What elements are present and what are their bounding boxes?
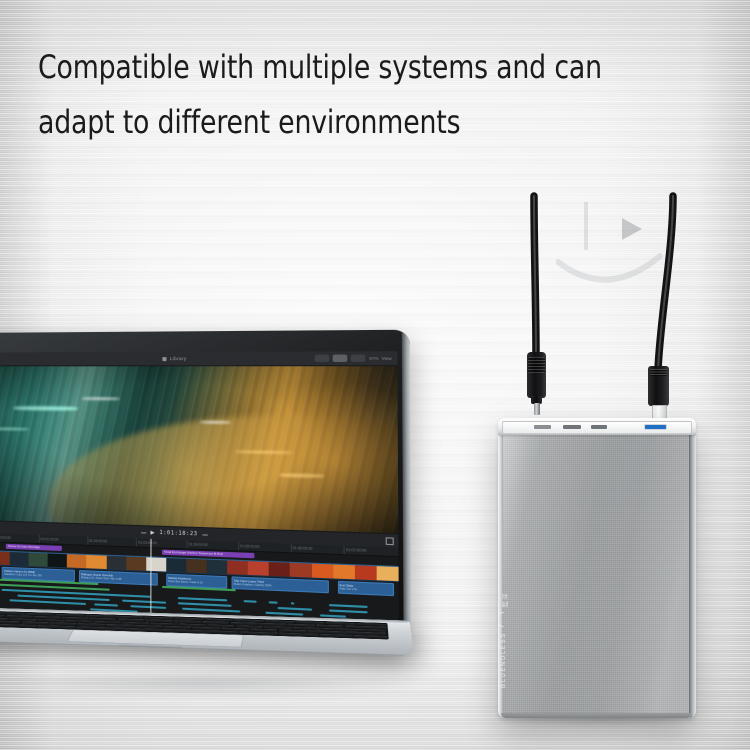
- usb-plug-ribs: [650, 369, 667, 376]
- keyboard-key[interactable]: [36, 625, 76, 629]
- dc-barrel-plug: [527, 352, 546, 414]
- filmstrip-frame: [67, 554, 87, 568]
- filmstrip-frame: [106, 556, 126, 570]
- ruler-tick: [38, 535, 39, 543]
- filmstrip-frame: [0, 551, 10, 565]
- filmstrip-frame: [376, 566, 398, 581]
- audio-waveform-segment[interactable]: [178, 597, 227, 601]
- filmstrip-frame: [87, 555, 107, 569]
- audio-waveform-segment[interactable]: [320, 614, 346, 617]
- clip-subtitle: Stabilized • Color LUT v3 • Rec.709: [4, 572, 73, 579]
- skip-forward-icon[interactable]: [202, 534, 207, 535]
- dc-power-cable: [534, 196, 536, 356]
- filmstrip-frame: [227, 560, 248, 575]
- external-hard-drive-enclosure: BLUENDLESS 藍深: [498, 418, 696, 718]
- skip-back-icon[interactable]: [142, 532, 147, 533]
- laptop-lid: Library 97% View: [0, 330, 412, 655]
- drive-right-edge: [690, 418, 696, 718]
- video-viewer: [0, 366, 398, 533]
- keyboard-key[interactable]: [0, 624, 36, 628]
- filmstrip-frame: [269, 562, 290, 577]
- drive-bottom-edge: [501, 713, 692, 718]
- brand-cjk-name: 藍深: [499, 592, 509, 607]
- usb-plug-body: [648, 366, 669, 406]
- audio-waveform-segment[interactable]: [94, 603, 118, 606]
- timecode-display: 1:01:18:23: [159, 530, 197, 538]
- audio-waveform-segment[interactable]: [10, 599, 87, 604]
- silver-laptop: Library 97% View: [0, 330, 414, 730]
- keyboard-key[interactable]: [239, 631, 279, 635]
- ruler-label: 01:07:00:00: [346, 547, 366, 552]
- timeline-marker[interactable]: Scene 01 Intro Montage: [6, 544, 62, 551]
- filmstrip-frame: [355, 565, 377, 580]
- laptop-screen: Library 97% View: [0, 351, 399, 647]
- filmstrip-frame: [10, 552, 29, 566]
- filmstrip-frame: [333, 564, 355, 579]
- ruler-label: 01:00:00:00: [0, 535, 11, 540]
- dc-plug-ribs: [528, 357, 545, 373]
- dc-cable-highlight: [534, 196, 536, 356]
- viewer-vignette: [0, 366, 398, 533]
- play-icon[interactable]: [151, 531, 155, 535]
- page-title: Compatible with multiple systems and can…: [38, 40, 680, 150]
- dc-power-port[interactable]: [563, 425, 581, 429]
- audio-waveform-segment[interactable]: [178, 602, 231, 606]
- smiley-face-watermark: [556, 196, 676, 308]
- keyboard-key[interactable]: [354, 635, 387, 639]
- audio-waveform-segment[interactable]: [244, 600, 257, 602]
- drive-body: BLUENDLESS 藍深: [498, 418, 696, 718]
- audio-waveform-segment[interactable]: [182, 608, 240, 612]
- audio-waveform-segment[interactable]: [269, 601, 277, 603]
- view-chip-1[interactable]: [315, 355, 330, 362]
- audio-waveform-segment[interactable]: [278, 607, 312, 610]
- ruler-tick: [344, 546, 345, 555]
- audio-waveform-segment[interactable]: [130, 605, 166, 608]
- library-icon: [162, 357, 166, 361]
- filmstrip-frame: [166, 558, 186, 572]
- micro-usb-port[interactable]: [591, 425, 607, 429]
- brand-name: BLUENDLESS: [501, 632, 507, 688]
- keyboard-key[interactable]: [320, 634, 353, 638]
- app-toolbar-title: Library: [170, 356, 187, 361]
- audio-waveform-segment[interactable]: [329, 604, 368, 608]
- ruler-tick: [238, 542, 239, 550]
- timeline-clip[interactable]: End SlateFade Out 1.5s: [337, 581, 394, 596]
- dc-plug-tip: [534, 403, 540, 415]
- ruler-tick: [290, 544, 291, 553]
- view-chip-2[interactable]: [333, 355, 348, 362]
- vent-slot[interactable]: [534, 425, 552, 429]
- ruler-label: 01:03:00:00: [138, 540, 157, 545]
- filmstrip-frame: [311, 564, 333, 579]
- lid-edge: [402, 330, 412, 655]
- audio-waveform-segment[interactable]: [290, 602, 294, 604]
- ruler-label: 01:06:00:00: [292, 545, 312, 550]
- zoom-level: 97%: [369, 356, 378, 361]
- audio-waveform-segment[interactable]: [329, 609, 368, 613]
- drive-surface-sheen: [498, 418, 696, 718]
- clip-subtitle: Fade Out 1.5s: [340, 587, 392, 594]
- clip-subtitle: Motion Graphics • Opacity 100%: [234, 582, 327, 590]
- brand-mark: BLUENDLESS 藍深: [498, 592, 511, 688]
- view-menu-label[interactable]: View: [382, 356, 392, 361]
- drive-right-seam: [689, 432, 691, 714]
- audio-waveform-segment[interactable]: [122, 600, 166, 604]
- app-toolbar: Library 97% View: [0, 351, 397, 366]
- keyboard-key[interactable]: [279, 633, 319, 637]
- filmstrip-frame: [290, 563, 311, 578]
- filmstrip-frame: [248, 561, 269, 576]
- filmstrip-frame: [186, 559, 206, 573]
- filmstrip-frame: [48, 553, 67, 567]
- ruler-label: 01:02:00:00: [89, 538, 107, 543]
- ruler-label: 01:05:00:00: [240, 544, 260, 549]
- ruler-tick: [136, 538, 137, 546]
- audio-waveform-segment[interactable]: [265, 612, 303, 616]
- product-image-canvas: Compatible with multiple systems and can…: [0, 0, 750, 750]
- view-chip-3[interactable]: [351, 355, 366, 362]
- app-toolbar-controls: 97% View: [315, 354, 392, 362]
- drive-top-bezel: [498, 418, 696, 435]
- usb-a-plug: [648, 366, 669, 422]
- filmstrip-frame: [29, 553, 48, 567]
- clip-subtitle: Music Bed Stereo • Fade In 2s: [168, 579, 225, 586]
- ruler-label: 01:04:00:00: [189, 542, 208, 547]
- dc-plug-grip: [527, 352, 546, 398]
- fullscreen-icon[interactable]: [386, 537, 394, 545]
- filmstrip-frame: [146, 557, 166, 571]
- filmstrip-frame: [207, 560, 228, 574]
- ruler-label: 01:01:00:00: [40, 537, 58, 542]
- ruler-tick: [87, 537, 88, 545]
- filmstrip-frame: [126, 556, 146, 570]
- timeline-clip[interactable]: Title Card Lower ThirdMotion Graphics • …: [232, 576, 329, 593]
- ruler-tick: [186, 540, 187, 548]
- usb3-port[interactable]: [645, 425, 667, 429]
